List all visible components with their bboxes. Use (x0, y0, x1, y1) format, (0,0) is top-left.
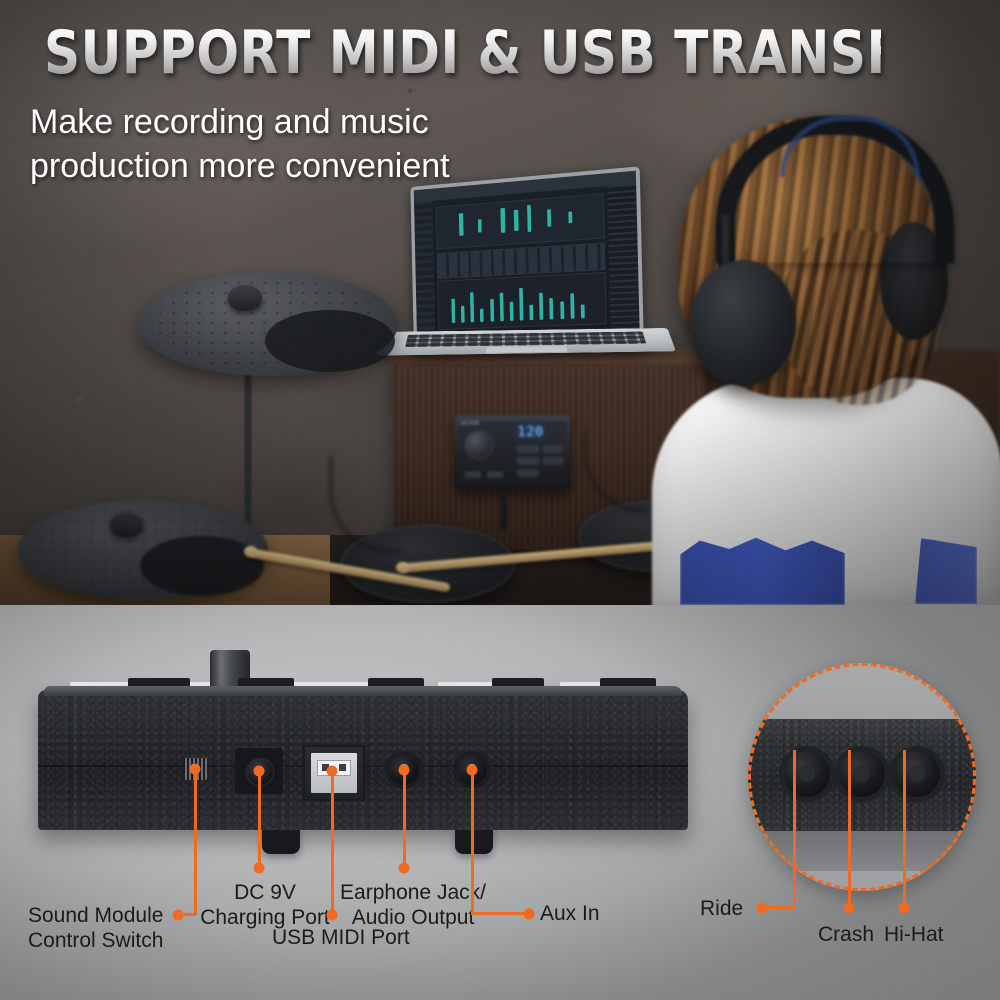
lifestyle-photo-panel: VEVOR 120 (0, 0, 1000, 605)
callout-dot-hihat-label (899, 903, 910, 914)
zoomed-inset-dashed-ring (748, 663, 976, 891)
callout-line-crash-v (848, 750, 851, 908)
callout-label-crash: Crash (818, 922, 874, 947)
callout-label-sound-module-control-switch: Sound Module Control Switch (28, 903, 163, 953)
callout-label-ride: Ride (700, 896, 743, 921)
product-feature-image: VEVOR 120 (0, 0, 1000, 1000)
callout-dot-switch-label (173, 910, 184, 921)
callout-label-aux-in: Aux In (540, 901, 600, 926)
callout-line-ride-v (793, 750, 796, 908)
callout-label-dc-9v-charging-port: DC 9V Charging Port (200, 880, 330, 930)
headline-text: SUPPORT MIDI & USB TRANSFER (44, 22, 881, 84)
callout-line-dc-v (258, 771, 261, 868)
callout-label-earphone-jack-audio-output: Earphone Jack/ Audio Output (338, 880, 488, 930)
callout-dot-earphone-label (399, 863, 410, 874)
callout-dot-usb-label (327, 910, 338, 921)
callout-label-hi-hat: Hi-Hat (884, 922, 944, 947)
callout-dot-ride-label (757, 903, 768, 914)
callout-line-aux-v (471, 770, 474, 913)
callout-dot-aux-label (524, 909, 535, 920)
callout-dot-dc-label (254, 863, 265, 874)
subheadline-text: Make recording and music production more… (30, 100, 590, 188)
callout-line-earphone-v (403, 770, 406, 868)
callout-line-switch-v (194, 769, 197, 915)
photo-vignette (0, 0, 1000, 605)
module-foot-right (455, 826, 493, 854)
callout-line-usb-v (331, 771, 334, 915)
callout-line-hihat-v (903, 750, 906, 908)
module-foot-left (262, 826, 300, 854)
callout-dot-crash-label (844, 903, 855, 914)
callout-line-aux-h (471, 912, 529, 915)
module-top-edge (44, 686, 682, 696)
